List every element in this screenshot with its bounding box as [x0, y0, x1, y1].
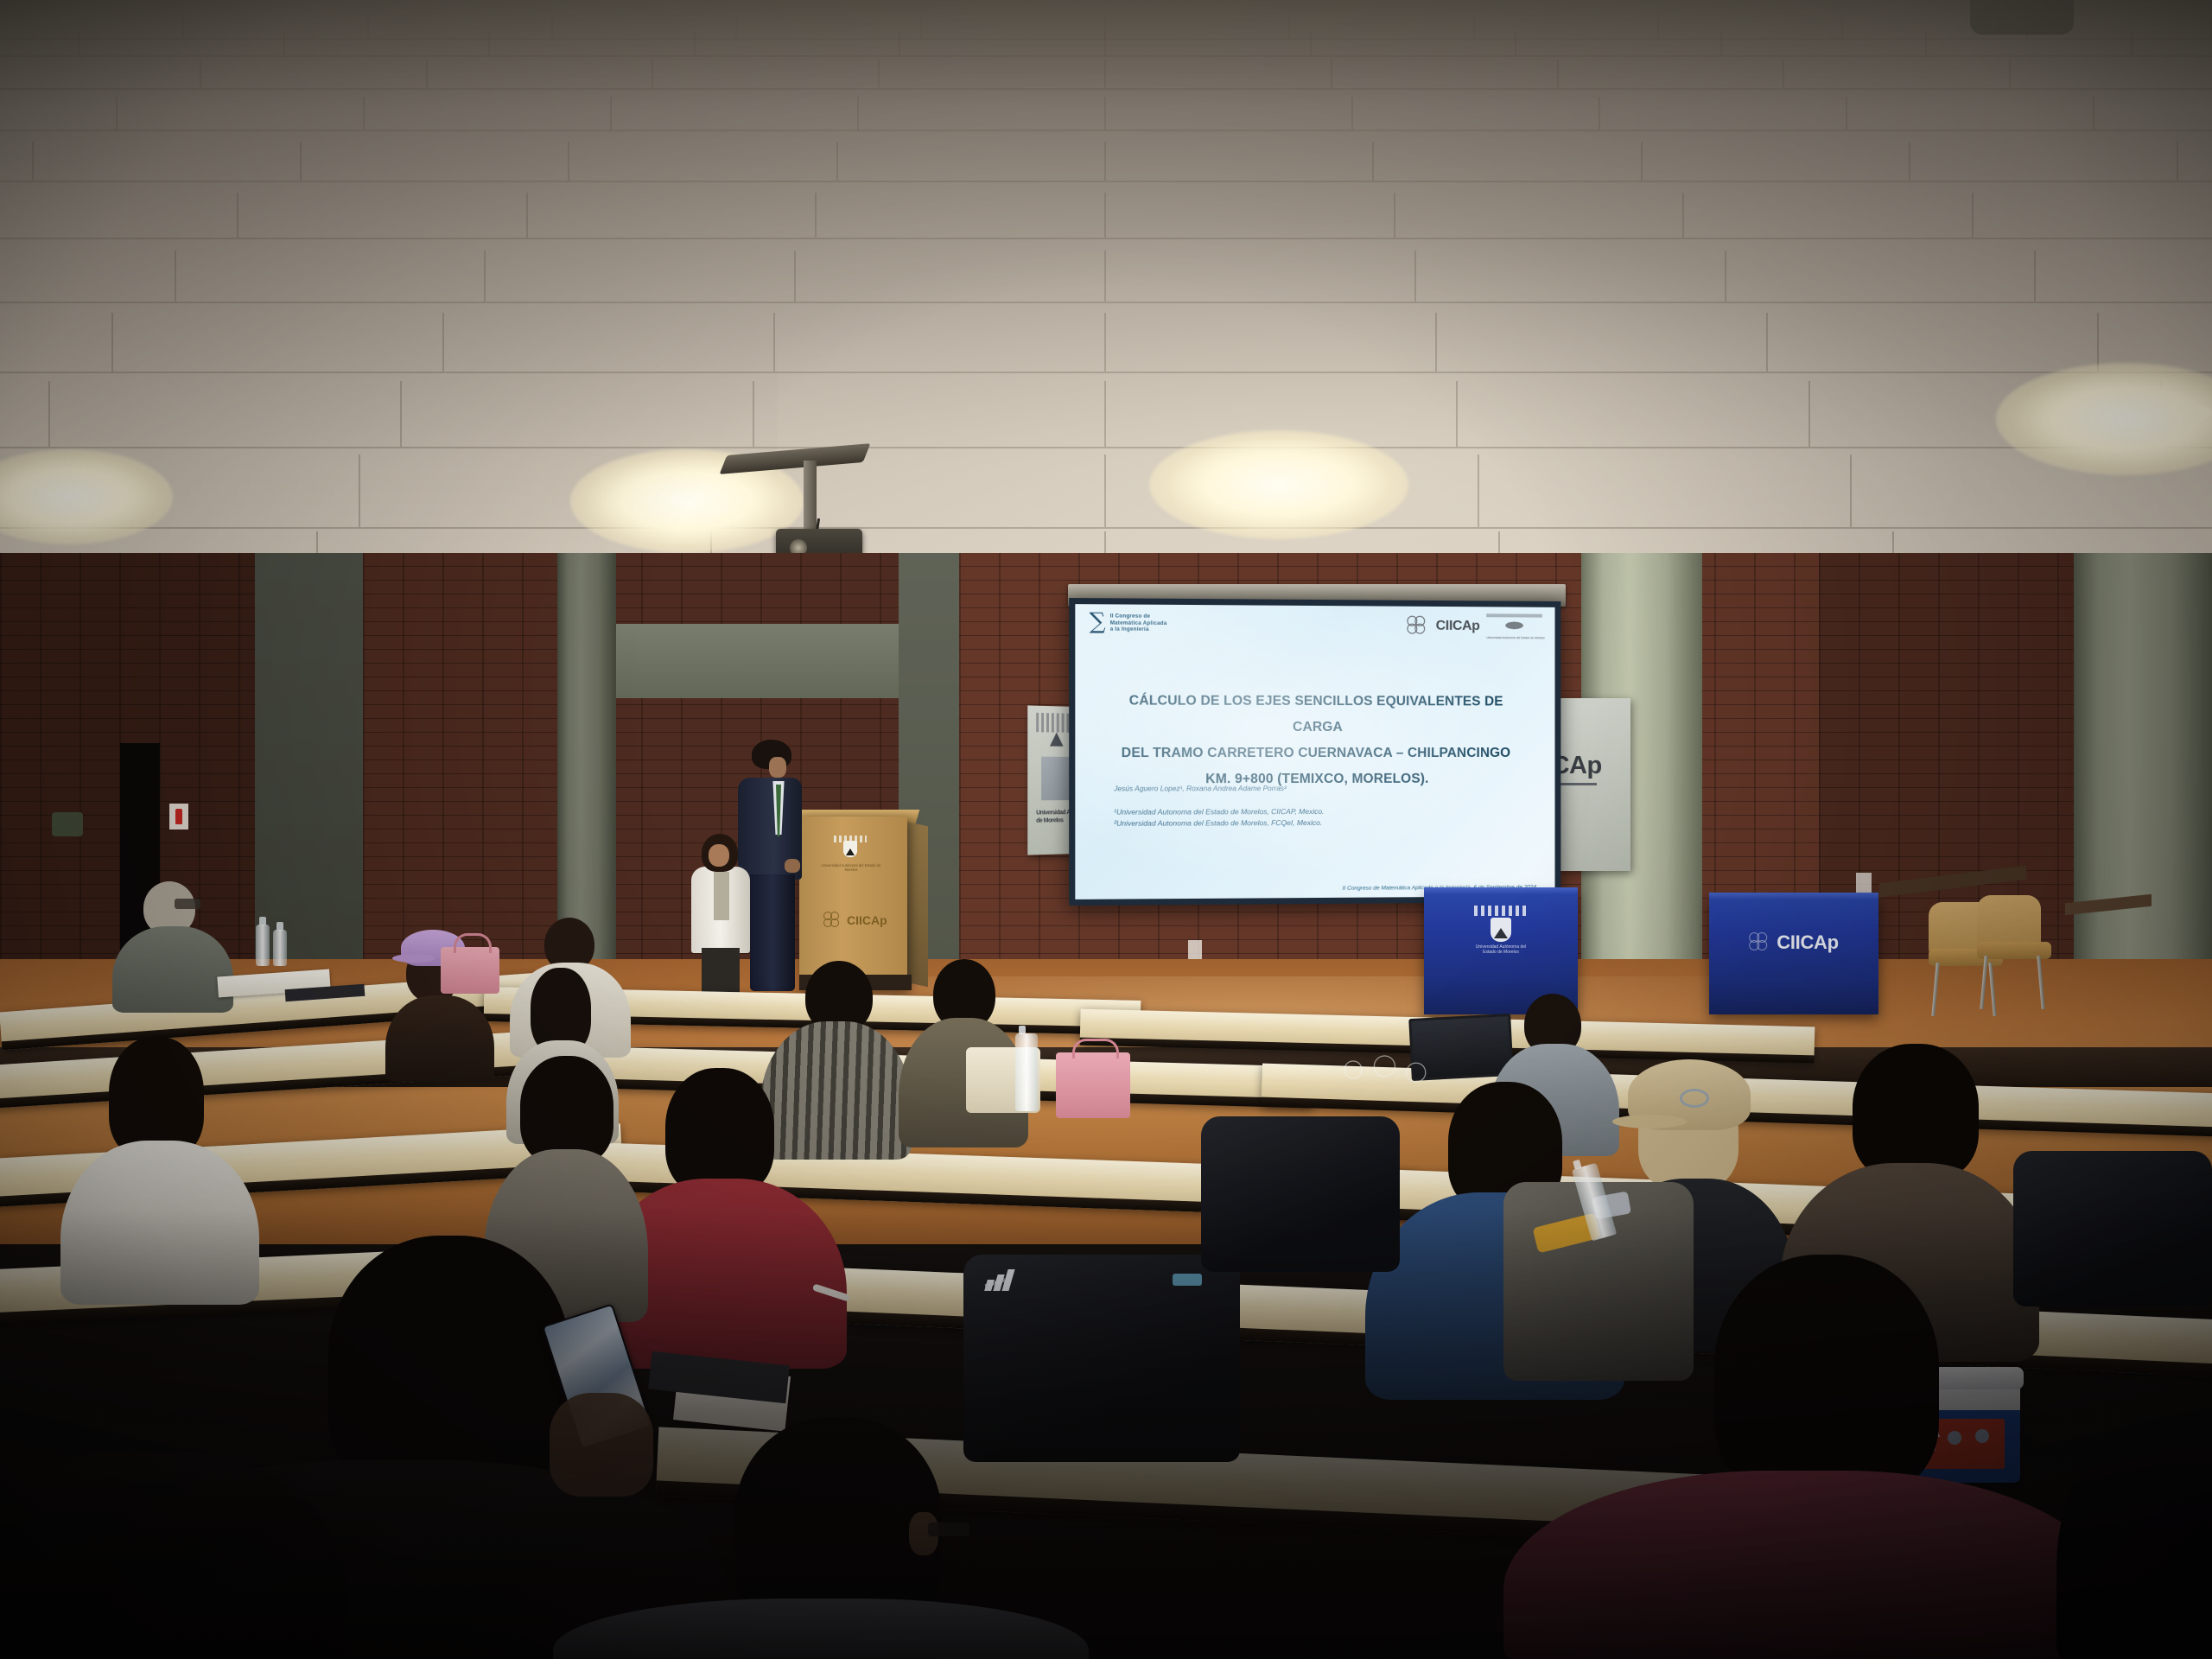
uaem-logo-icon	[1486, 613, 1542, 636]
person-head	[328, 1236, 570, 1495]
person-torso	[112, 926, 233, 1013]
audience-member-foreground	[1503, 1255, 2108, 1659]
table-top-edge	[1709, 893, 1878, 899]
ceiling-tile	[1784, 60, 2011, 90]
ceiling-tile	[113, 313, 444, 372]
audience-member-foreground	[553, 1417, 1089, 1659]
ceiling-tile	[900, 32, 1106, 57]
ceiling-tile	[2094, 97, 2212, 131]
backpack-zip-pull	[1173, 1274, 1202, 1286]
person-torso	[2056, 1417, 2212, 1659]
ceiling-tile	[612, 97, 859, 131]
person-torso-pink-shirt	[1503, 1471, 2108, 1659]
ceiling-tile	[176, 251, 486, 303]
projection-screen: ∑ II Congreso de Matemática Aplicada a l…	[1069, 598, 1560, 906]
ceiling-tile	[34, 142, 302, 182]
ceiling-tile	[817, 193, 1106, 239]
ceiling-tile	[1974, 193, 2212, 239]
ceiling-tile	[696, 32, 901, 57]
ceiling-tile	[754, 381, 1106, 448]
ceiling-tile	[0, 313, 113, 372]
ceiling-tile	[1395, 193, 1685, 239]
ceiling-tile	[775, 313, 1106, 372]
fire-extinguisher-sign-icon	[169, 804, 188, 829]
moderator-inner-top	[714, 872, 729, 920]
pink-shopping-bag	[1056, 1052, 1130, 1118]
cap-brim	[1612, 1115, 1687, 1128]
podium-uaem-crest-icon	[834, 836, 868, 860]
ceiling-tile	[653, 60, 880, 90]
ceiling-tile	[302, 142, 569, 182]
cap-brim	[392, 954, 435, 963]
ceiling-tile	[1516, 32, 1722, 57]
ciicap-circles-icon	[823, 912, 842, 929]
person-torso-light-blue-shirt	[553, 1599, 1089, 1659]
ceiling-tile	[0, 97, 118, 131]
person-head	[109, 1037, 204, 1158]
slide-title: CÁLCULO DE LOS EJES SENCILLOS EQUIVALENT…	[1105, 688, 1526, 792]
water-bottle	[273, 930, 287, 966]
ciicap-circles-icon	[1749, 932, 1771, 953]
ceiling-tile	[285, 32, 491, 57]
audience-member	[112, 881, 233, 1011]
ceiling-tile	[1600, 97, 1847, 131]
ceiling-tile	[796, 251, 1106, 303]
lecture-hall-photo: Universidad Autónoma del Estado de Morel…	[0, 0, 2212, 1659]
slide-title-line-2: DEL TRAMO CARRETERO CUERNAVACA – CHILPAN…	[1105, 741, 1526, 766]
ceiling-tile	[1106, 60, 1332, 90]
slide-affiliations: ¹Universidad Autonoma del Estado de More…	[1114, 805, 1529, 828]
podium-crest-caption: Universidad Autónoma del Estado de Morel…	[817, 863, 886, 872]
water-bottle	[256, 925, 270, 966]
person-torso	[0, 1452, 346, 1659]
slide-affiliation-2: ²Universidad Autonoma del Estado de More…	[1114, 817, 1529, 829]
table-crest-caption: Universidad Autónoma del Estado de Morel…	[1473, 944, 1529, 955]
ceiling-tile	[365, 97, 612, 131]
ceiling-tile	[880, 60, 1106, 90]
ceiling-tile	[1847, 97, 2094, 131]
ceiling-tile	[1353, 97, 1600, 131]
person-torso	[385, 995, 494, 1082]
wall-fixture	[52, 812, 83, 836]
table-top-edge	[1424, 887, 1578, 894]
slide-authors: Jesús Aguero Lopez¹, Roxana Andrea Adame…	[1114, 783, 1521, 795]
ceiling-tile	[486, 251, 796, 303]
ceiling-tile	[1479, 454, 1853, 529]
ceiling-tile	[1106, 97, 1353, 131]
podium-ciicap-logo: CIICAp	[823, 912, 887, 929]
ceiling-tile	[1312, 32, 1517, 57]
wall-outlet-icon	[1188, 940, 1202, 959]
adidas-logo-icon: adidas	[986, 1270, 1022, 1291]
person-head	[1714, 1255, 1939, 1497]
crest-shield-icon	[1491, 918, 1511, 942]
table-uaem-crest-icon: Universidad Autónoma del Estado de Morel…	[1473, 906, 1529, 942]
table-ciicap-skirt: CIICAp	[1709, 897, 1878, 1014]
congress-line-1: II Congreso de	[1110, 613, 1167, 620]
slide-title-line-1: CÁLCULO DE LOS EJES SENCILLOS EQUIVALENT…	[1105, 688, 1526, 741]
podium-ciicap-label: CIICAp	[847, 913, 887, 927]
ceiling-tile	[1684, 193, 1974, 239]
eyeglasses-icon	[175, 899, 200, 909]
ceiling-tile	[1106, 313, 1437, 372]
wall-band	[570, 624, 933, 698]
audience-member-foreground	[0, 1452, 346, 1659]
ceiling-tile	[1927, 32, 2133, 57]
ceiling-tile	[0, 142, 34, 182]
ceiling-tile	[1458, 381, 1809, 448]
slide-uaem-logo: Universidad Autónoma del Estado de Morel…	[1486, 613, 1544, 639]
ceiling-tile	[0, 32, 79, 57]
ceiling-tile	[490, 32, 696, 57]
ceiling-tile	[79, 32, 285, 57]
ceiling-speaker-icon	[1970, 0, 2074, 35]
ceiling-tile	[0, 60, 201, 90]
presenter-face	[769, 757, 786, 778]
ceiling-tile	[0, 193, 238, 239]
ceiling-tile	[118, 97, 365, 131]
chair-backrest	[1977, 895, 2041, 949]
ceiling-tile	[859, 97, 1106, 131]
cap-logo-icon	[1680, 1089, 1709, 1108]
water-bottle	[1015, 1033, 1038, 1111]
ciicap-circles-icon	[1407, 616, 1429, 637]
presentation-slide: ∑ II Congreso de Matemática Aplicada a l…	[1075, 604, 1554, 899]
ceiling-tile	[1910, 142, 2178, 182]
ceiling-tile	[1722, 32, 1928, 57]
ceiling-tile	[1559, 60, 1785, 90]
wall-outlet-icon	[1856, 873, 1872, 893]
slide-uaem-caption: Universidad Autónoma del Estado de Morel…	[1486, 636, 1544, 639]
crest-shield-icon	[843, 841, 857, 857]
ceiling-tile	[1106, 193, 1395, 239]
person-head	[665, 1068, 774, 1196]
moderator-legs	[702, 948, 740, 998]
ceiling-tile	[201, 60, 428, 90]
table-ciicap-logo: CIICAp	[1749, 931, 1839, 954]
eyeglasses-icon	[928, 1522, 969, 1536]
moderator-face	[709, 844, 729, 867]
ceiling-tile	[1726, 251, 2037, 303]
ceiling-tile	[402, 381, 753, 448]
sigma-icon: ∑	[1090, 613, 1106, 630]
ceiling-tile	[528, 193, 817, 239]
ceiling-tile	[50, 381, 402, 448]
ceiling	[0, 0, 2212, 596]
ceiling-tile	[428, 60, 654, 90]
slide-congress-logo: ∑ II Congreso de Matemática Aplicada a l…	[1090, 613, 1167, 633]
ceiling-light-glow	[1149, 430, 1408, 539]
ceiling-tile	[1437, 313, 1768, 372]
person-head	[1853, 1044, 1979, 1180]
ceiling-tile	[1643, 142, 1910, 182]
ceiling-tile	[0, 381, 50, 448]
audience-member-foreground	[2056, 1417, 2212, 1659]
ceiling-tile	[2036, 251, 2212, 303]
ceiling-tile	[2011, 60, 2212, 90]
slide-ciicap-label: CIICAp	[1436, 619, 1480, 634]
slide-brand-logos: CIICAp Universidad Autónoma del Estado d…	[1407, 613, 1545, 640]
ceiling-tile	[838, 142, 1106, 182]
congress-line-3: a la Ingeniería	[1110, 626, 1167, 633]
ceiling-tile	[2178, 142, 2212, 182]
presenter-hand	[785, 859, 800, 873]
ceiling-tile	[444, 313, 775, 372]
pink-handbag	[441, 947, 499, 994]
ceiling-tile	[1106, 251, 1416, 303]
ceiling-tile	[1768, 313, 2099, 372]
ceiling-tile	[0, 251, 176, 303]
ceiling-tile	[1416, 251, 1726, 303]
projector-arm	[804, 461, 817, 535]
ceiling-tile	[569, 142, 837, 182]
ceiling-tile	[1106, 32, 1312, 57]
table-ciicap-label: CIICAp	[1777, 931, 1839, 954]
ceiling-tile	[1332, 60, 1559, 90]
ceiling-tile	[1106, 142, 1374, 182]
ceiling-tile	[2133, 32, 2212, 57]
black-backpack	[1201, 1116, 1400, 1272]
uaem-crest-icon	[1050, 732, 1064, 746]
ceiling-tile	[238, 193, 528, 239]
crest-plume-icon	[1474, 906, 1528, 916]
ceiling-tile	[1374, 142, 1642, 182]
moderator-standing	[691, 834, 752, 998]
